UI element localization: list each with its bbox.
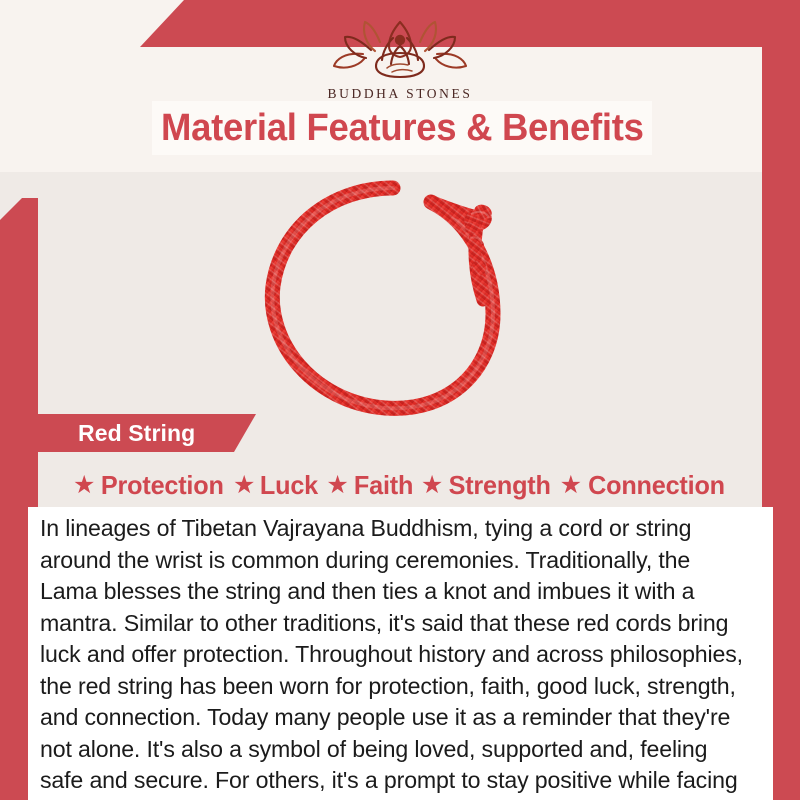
brand-name: BUDDHA STONES [0,86,800,102]
benefit-item-connection: ★ Connection [560,470,727,501]
benefit-item-strength: ★ Strength [421,470,553,501]
description-panel: In lineages of Tibetan Vajrayana Buddhis… [28,507,773,800]
benefit-label: Protection [101,470,224,501]
star-icon: ★ [73,473,95,498]
product-label: Red String [78,420,195,447]
benefit-label: Luck [260,470,318,501]
benefit-item-luck: ★ Luck [233,470,319,501]
star-icon: ★ [326,473,348,498]
product-infographic: BUDDHA STONES Material Features & Benefi… [0,0,800,800]
lotus-meditation-figure-icon [330,14,470,84]
star-icon: ★ [233,473,255,498]
star-icon: ★ [421,473,443,498]
description-text: In lineages of Tibetan Vajrayana Buddhis… [40,513,750,800]
benefit-label: Faith [354,470,413,501]
benefit-label: Connection [588,470,725,501]
benefit-label: Strength [449,470,551,501]
product-label-banner: Red String [28,414,256,452]
benefit-item-faith: ★ Faith [326,470,414,501]
page-title: Material Features & Benefits [161,107,644,150]
product-image-area [38,172,762,422]
red-string-bracelet-image [235,176,565,422]
benefits-list: ★ Protection ★ Luck ★ Faith ★ Strength ★… [38,464,762,506]
benefit-item-protection: ★ Protection [73,470,226,501]
star-icon: ★ [560,473,582,498]
title-band: Material Features & Benefits [152,101,652,155]
brand-logo: BUDDHA STONES [0,14,800,102]
